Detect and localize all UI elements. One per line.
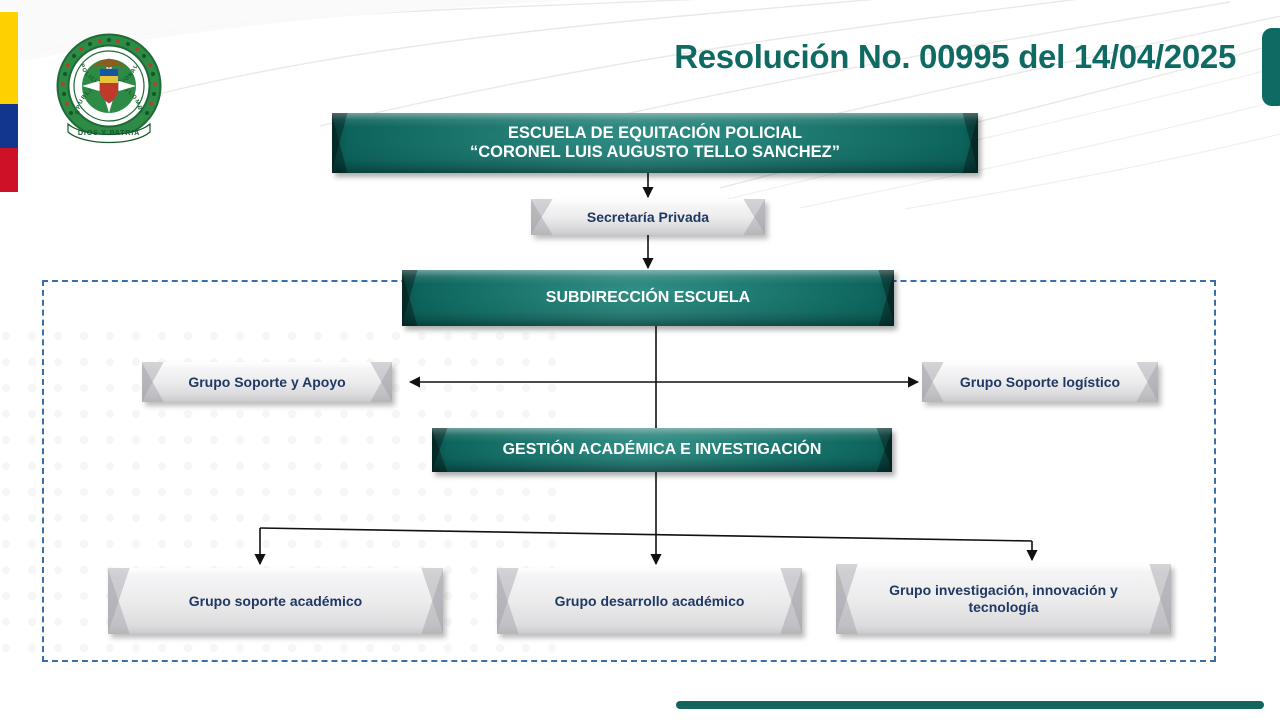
svg-text:DIOS Y PATRIA: DIOS Y PATRIA bbox=[78, 128, 140, 137]
flag-stripe-yellow bbox=[0, 12, 18, 104]
org-node-label: SUBDIRECCIÓN ESCUELA bbox=[520, 289, 776, 308]
escudo-policia-nacional-colombia-icon: REPUBLICA DE COLOMBIA POLICIA · NACIONAL… bbox=[52, 28, 166, 158]
org-node-label: Grupo Soporte logístico bbox=[934, 374, 1146, 391]
org-node-gestion-academica-e-investigacion[interactable]: GESTIÓN ACADÉMICA E INVESTIGACIÓN bbox=[432, 428, 892, 472]
org-node-label: Grupo desarrollo académico bbox=[529, 593, 771, 610]
org-node-grupo-soporte-logistico[interactable]: Grupo Soporte logístico bbox=[922, 362, 1158, 402]
org-node-secretaria-privada[interactable]: Secretaría Privada bbox=[531, 199, 765, 235]
slide-canvas: REPUBLICA DE COLOMBIA POLICIA · NACIONAL… bbox=[0, 0, 1280, 720]
flag-stripe-red bbox=[0, 148, 18, 192]
org-node-label: Grupo soporte académico bbox=[163, 593, 388, 610]
org-node-label: Grupo Soporte y Apoyo bbox=[162, 374, 371, 391]
org-node-grupo-soporte-y-apoyo[interactable]: Grupo Soporte y Apoyo bbox=[142, 362, 392, 402]
org-node-escuela-equitacion-policial[interactable]: ESCUELA DE EQUITACIÓN POLICIAL “CORONEL … bbox=[332, 113, 978, 173]
org-node-label: GESTIÓN ACADÉMICA E INVESTIGACIÓN bbox=[477, 441, 848, 460]
bottom-accent-bar bbox=[676, 701, 1264, 709]
teal-edge-tab bbox=[1262, 28, 1280, 106]
org-node-grupo-soporte-academico[interactable]: Grupo soporte académico bbox=[108, 568, 443, 634]
org-node-subdireccion-escuela[interactable]: SUBDIRECCIÓN ESCUELA bbox=[402, 270, 894, 326]
org-node-label: Grupo investigación, innovación y tecnol… bbox=[863, 582, 1144, 615]
org-node-grupo-desarrollo-academico[interactable]: Grupo desarrollo académico bbox=[497, 568, 802, 634]
org-node-grupo-investigacion-innovacion-tecnologia[interactable]: Grupo investigación, innovación y tecnol… bbox=[836, 564, 1171, 634]
background-swoosh-decoration bbox=[0, 0, 1280, 210]
org-node-label: ESCUELA DE EQUITACIÓN POLICIAL “CORONEL … bbox=[444, 124, 866, 163]
flag-stripe-blue bbox=[0, 104, 18, 148]
org-node-label: Secretaría Privada bbox=[561, 209, 735, 226]
page-title: Resolución No. 00995 del 14/04/2025 bbox=[674, 38, 1236, 76]
